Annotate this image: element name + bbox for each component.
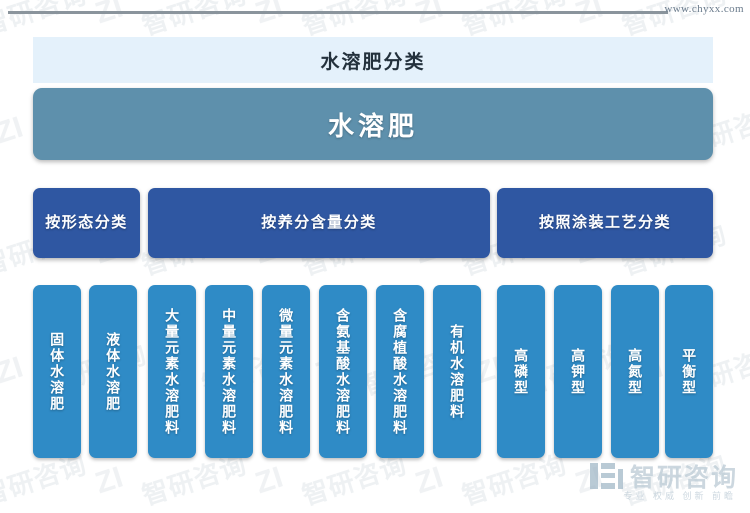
leaf-label: 含腐植酸水溶肥料 — [390, 308, 410, 436]
category-box-1[interactable]: 按养分含量分类 — [148, 188, 490, 258]
leaf-box-1[interactable]: 液体水溶肥 — [89, 285, 137, 458]
category-label: 按养分含量分类 — [261, 213, 377, 232]
category-box-2[interactable]: 按照涂装工艺分类 — [497, 188, 713, 258]
leaf-box-6[interactable]: 含腐植酸水溶肥料 — [376, 285, 424, 458]
fertilizer-classification-diagram: 水溶肥分类 水溶肥 按形态分类按养分含量分类按照涂装工艺分类 固体水溶肥液体水溶… — [0, 0, 750, 500]
header-divider-rule — [8, 11, 668, 14]
leaf-label: 高钾型 — [568, 348, 588, 396]
leaf-box-8[interactable]: 高磷型 — [497, 285, 545, 458]
leaf-row: 固体水溶肥液体水溶肥大量元素水溶肥料中量元素水溶肥料微量元素水溶肥料含氨基酸水溶… — [33, 285, 713, 458]
leaf-label: 有机水溶肥料 — [447, 324, 467, 420]
leaf-label: 含氨基酸水溶肥料 — [333, 308, 353, 436]
root-node-label: 水溶肥 — [328, 106, 418, 143]
leaf-label: 固体水溶肥 — [47, 332, 67, 412]
leaf-label: 平衡型 — [679, 348, 699, 396]
leaf-box-11[interactable]: 平衡型 — [665, 285, 713, 458]
category-label: 按形态分类 — [45, 213, 128, 232]
zhiyan-logo-icon — [590, 461, 624, 491]
leaf-label: 液体水溶肥 — [103, 332, 123, 412]
category-row: 按形态分类按养分含量分类按照涂装工艺分类 — [33, 188, 713, 258]
leaf-label: 微量元素水溶肥料 — [276, 308, 296, 436]
leaf-label: 高磷型 — [511, 348, 531, 396]
leaf-box-5[interactable]: 含氨基酸水溶肥料 — [319, 285, 367, 458]
brand-tagline-label: 专业 权威 创新 前瞻 — [623, 489, 736, 502]
leaf-box-7[interactable]: 有机水溶肥料 — [433, 285, 481, 458]
leaf-box-4[interactable]: 微量元素水溶肥料 — [262, 285, 310, 458]
leaf-box-10[interactable]: 高氮型 — [611, 285, 659, 458]
root-node-water-soluble-fertilizer[interactable]: 水溶肥 — [33, 88, 713, 160]
leaf-box-9[interactable]: 高钾型 — [554, 285, 602, 458]
leaf-box-2[interactable]: 大量元素水溶肥料 — [148, 285, 196, 458]
page-title: 水溶肥分类 — [320, 47, 425, 74]
leaf-label: 大量元素水溶肥料 — [162, 308, 182, 436]
category-label: 按照涂装工艺分类 — [539, 213, 671, 232]
leaf-box-3[interactable]: 中量元素水溶肥料 — [205, 285, 253, 458]
leaf-box-0[interactable]: 固体水溶肥 — [33, 285, 81, 458]
leaf-label: 高氮型 — [625, 348, 645, 396]
site-url-label: www.chyxx.com — [664, 3, 744, 15]
diagram-title-strip: 水溶肥分类 — [33, 37, 713, 83]
leaf-label: 中量元素水溶肥料 — [219, 308, 239, 436]
category-box-0[interactable]: 按形态分类 — [33, 188, 140, 258]
